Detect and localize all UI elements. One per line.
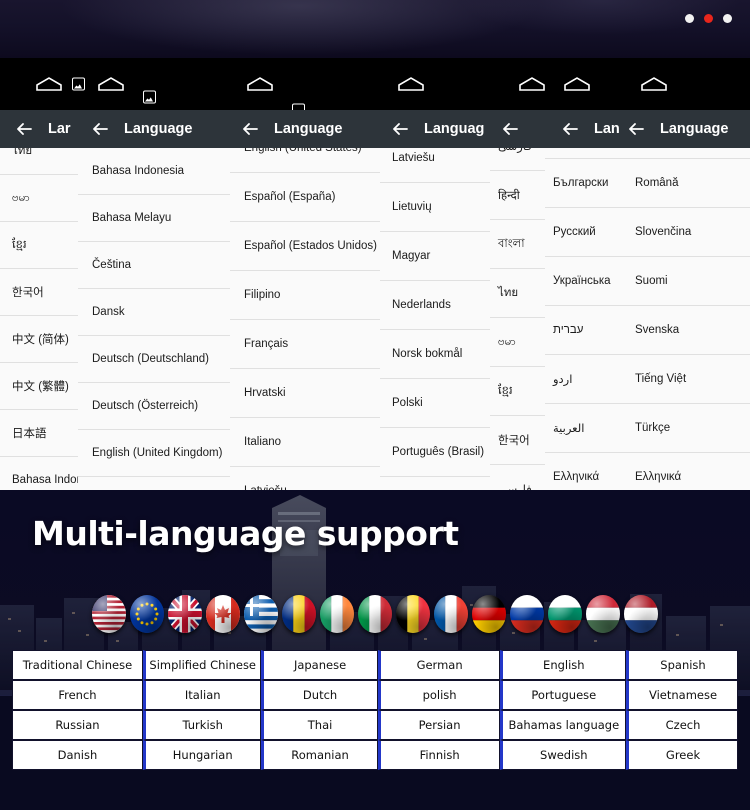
home-icon[interactable]: [247, 77, 273, 91]
language-list-item[interactable]: English (United States): [230, 148, 380, 173]
back-arrow-icon[interactable]: [240, 119, 260, 139]
table-cell: Finnish: [378, 740, 500, 770]
language-support-table: Traditional ChineseSimplified ChineseJap…: [12, 650, 738, 770]
language-list-item[interactable]: ខ្មែរ: [0, 222, 78, 269]
language-list-item[interactable]: ไทย: [490, 269, 545, 318]
language-list-item[interactable]: Русский: [380, 477, 490, 490]
table-cell: Thai: [261, 710, 378, 740]
language-list-item[interactable]: Bahasa Melayu: [78, 195, 230, 242]
device-nav-strip: [0, 58, 750, 110]
home-icon[interactable]: [641, 77, 667, 91]
language-list-item[interactable]: Tiếng Việt: [627, 355, 750, 404]
screen-root: LarLanguageLanguageLanguagLanLanguage ไท…: [0, 0, 750, 810]
table-cell: Turkish: [143, 710, 261, 740]
table-row: Traditional ChineseSimplified ChineseJap…: [12, 650, 738, 680]
language-list-item[interactable]: Español (España): [230, 173, 380, 222]
flag-canada: [206, 595, 240, 633]
hero-top-banner: [0, 0, 750, 58]
language-list-item[interactable]: עברית: [545, 306, 627, 355]
language-list-item[interactable]: Nederlands: [380, 281, 490, 330]
flag-france: [434, 595, 468, 633]
language-list-item[interactable]: فارسی: [490, 148, 545, 171]
table-cell: Persian: [378, 710, 500, 740]
language-list-item[interactable]: Ελληνικά: [545, 453, 627, 490]
language-list-item[interactable]: Suomi: [627, 257, 750, 306]
table-cell: Hungarian: [143, 740, 261, 770]
language-list-item[interactable]: Português (Brasil): [380, 428, 490, 477]
app-bar-title: Language: [660, 121, 750, 137]
flag-bulgaria: [548, 595, 582, 633]
dot-white-left[interactable]: [685, 14, 694, 23]
language-list-item[interactable]: 中文 (繁體): [0, 363, 78, 410]
back-arrow-icon[interactable]: [14, 119, 34, 139]
table-cell: Italian: [143, 680, 261, 710]
language-column-6[interactable]: ΕλληνικάБългарскиРусскийУкраїнськаעבריתا…: [545, 148, 627, 490]
flag-germany: [472, 595, 506, 633]
language-column-4[interactable]: LatviešuLietuviųMagyarNederlandsNorsk bo…: [380, 148, 490, 490]
language-list-item[interactable]: বাংলা: [490, 220, 545, 269]
table-cell: polish: [378, 680, 500, 710]
language-list-item[interactable]: Magyar: [380, 232, 490, 281]
app-bar-title: Languag: [424, 121, 504, 137]
flag-russia: [510, 595, 544, 633]
language-column-3[interactable]: English (United States)Español (España)E…: [230, 148, 380, 490]
flag-row: [0, 595, 750, 633]
flag-united-states: [92, 595, 126, 633]
flag-hungary: [586, 595, 620, 633]
language-list-item[interactable]: Română: [627, 159, 750, 208]
table-row: DanishHungarianRomanianFinnishSwedishGre…: [12, 740, 738, 770]
back-arrow-icon[interactable]: [560, 119, 580, 139]
back-arrow-icon[interactable]: [500, 119, 520, 139]
flag-european-union: [130, 595, 164, 633]
language-list-item[interactable]: Dansk: [78, 289, 230, 336]
language-list-item[interactable]: ไทย: [0, 148, 78, 175]
language-list-item[interactable]: ខ្មែរ: [490, 367, 545, 416]
back-arrow-icon[interactable]: [390, 119, 410, 139]
table-cell: Spanish: [626, 650, 738, 680]
language-list-item[interactable]: Latviešu: [230, 467, 380, 490]
language-list-item[interactable]: Bahasa Indonesia: [78, 148, 230, 195]
home-icon[interactable]: [564, 77, 590, 91]
promo-title: Multi-language support: [32, 514, 458, 553]
flag-netherlands: [624, 595, 658, 633]
table-cell: Czech: [626, 710, 738, 740]
home-icon[interactable]: [36, 77, 62, 91]
dot-white-right[interactable]: [723, 14, 732, 23]
table-cell: Danish: [12, 740, 143, 770]
table-cell: Vietnamese: [626, 680, 738, 710]
table-cell: Romanian: [261, 740, 378, 770]
language-list-item[interactable]: Українська: [545, 257, 627, 306]
app-bar-title: Language: [124, 121, 214, 137]
language-list-item[interactable]: Filipino: [230, 271, 380, 320]
language-list-item[interactable]: ဗမာ: [490, 318, 545, 367]
image-icon[interactable]: [143, 91, 156, 104]
language-list-item[interactable]: اردو: [545, 355, 627, 404]
flag-romania: [282, 595, 316, 633]
language-list-item[interactable]: Bahasa Indonesia: [0, 457, 78, 490]
promo-section: Multi-language support Traditional Chine…: [0, 490, 750, 810]
language-list-item[interactable]: हिन्दी: [490, 171, 545, 220]
language-list-item[interactable]: Français: [230, 320, 380, 369]
language-list-panel[interactable]: ไทยဗမာខ្មែរ한국어中文 (简体)中文 (繁體)日本語Bahasa In…: [0, 148, 750, 490]
language-list-item[interactable]: Русский: [545, 208, 627, 257]
language-list-item[interactable]: Español (Estados Unidos): [230, 222, 380, 271]
home-icon[interactable]: [98, 77, 124, 91]
table-cell: Swedish: [500, 740, 626, 770]
language-column-5[interactable]: فارسیहिन्दीবাংলাไทยဗမာខ្មែរ한국어فارسی: [490, 148, 545, 490]
table-cell: Greek: [626, 740, 738, 770]
language-list-item[interactable]: Polski: [380, 379, 490, 428]
flag-italy: [358, 595, 392, 633]
table-cell: Simplified Chinese: [143, 650, 261, 680]
language-list-item[interactable]: 한국어: [0, 269, 78, 316]
language-list-item[interactable]: Svenska: [627, 306, 750, 355]
language-list-item[interactable]: 한국어: [490, 416, 545, 465]
language-list-item[interactable]: Deutsch (Österreich): [78, 383, 230, 430]
flag-ireland: [320, 595, 354, 633]
flag-united-kingdom: [168, 595, 202, 633]
flag-belgium: [396, 595, 430, 633]
table-cell: Japanese: [261, 650, 378, 680]
table-cell: German: [378, 650, 500, 680]
language-list-item[interactable]: Türkçe: [627, 404, 750, 453]
language-list-item[interactable]: Български: [545, 159, 627, 208]
language-list-item[interactable]: 日本語: [0, 410, 78, 457]
language-list-item[interactable]: Čeština: [78, 242, 230, 289]
language-column-2[interactable]: Bahasa IndonesiaBahasa MelayuČeštinaDans…: [78, 148, 230, 490]
back-arrow-icon[interactable]: [90, 119, 110, 139]
back-arrow-icon[interactable]: [626, 119, 646, 139]
table-row: RussianTurkishThaiPersianBahamas languag…: [12, 710, 738, 740]
app-bar-title: Language: [274, 121, 364, 137]
table-cell: Russian: [12, 710, 143, 740]
language-list-item[interactable]: Português (Portugal): [627, 148, 750, 159]
table-cell: English: [500, 650, 626, 680]
table-cell: Traditional Chinese: [12, 650, 143, 680]
language-list-item[interactable]: Ελληνικά: [627, 453, 750, 490]
language-list-item[interactable]: English (United Kingdom): [78, 430, 230, 477]
language-list-item[interactable]: Lietuvių: [380, 183, 490, 232]
language-list-item[interactable]: Italiano: [230, 418, 380, 467]
language-list-item[interactable]: Hrvatski: [230, 369, 380, 418]
dot-red[interactable]: [704, 14, 713, 23]
language-column-1[interactable]: ไทยဗမာខ្មែរ한국어中文 (简体)中文 (繁體)日本語Bahasa In…: [0, 148, 78, 490]
language-list-item[interactable]: English (United States): [78, 477, 230, 490]
language-list-item[interactable]: فارسی: [490, 465, 545, 490]
app-bar-title: Lar: [48, 121, 84, 137]
language-list-item[interactable]: Slovenčina: [627, 208, 750, 257]
image-icon[interactable]: [72, 78, 85, 91]
table-cell: French: [12, 680, 143, 710]
table-cell: Dutch: [261, 680, 378, 710]
window-dots: [685, 14, 732, 23]
home-icon[interactable]: [398, 77, 424, 91]
app-bar-language: LarLanguageLanguageLanguagLanLanguage: [0, 110, 750, 148]
language-list-item[interactable]: 中文 (简体): [0, 316, 78, 363]
language-column-7[interactable]: Português (Portugal)RomânăSlovenčinaSuom…: [627, 148, 750, 490]
table-cell: Bahamas language: [500, 710, 626, 740]
language-list-item[interactable]: Ελληνικά: [545, 148, 627, 159]
flag-greece: [244, 595, 278, 633]
language-list-item[interactable]: Latviešu: [380, 148, 490, 183]
home-icon[interactable]: [519, 77, 545, 91]
language-list-item[interactable]: العربية: [545, 404, 627, 453]
table-row: FrenchItalianDutchpolishPortugueseVietna…: [12, 680, 738, 710]
language-list-item[interactable]: Deutsch (Deutschland): [78, 336, 230, 383]
table-cell: Portuguese: [500, 680, 626, 710]
language-list-item[interactable]: ဗမာ: [0, 175, 78, 222]
language-list-item[interactable]: Norsk bokmål: [380, 330, 490, 379]
